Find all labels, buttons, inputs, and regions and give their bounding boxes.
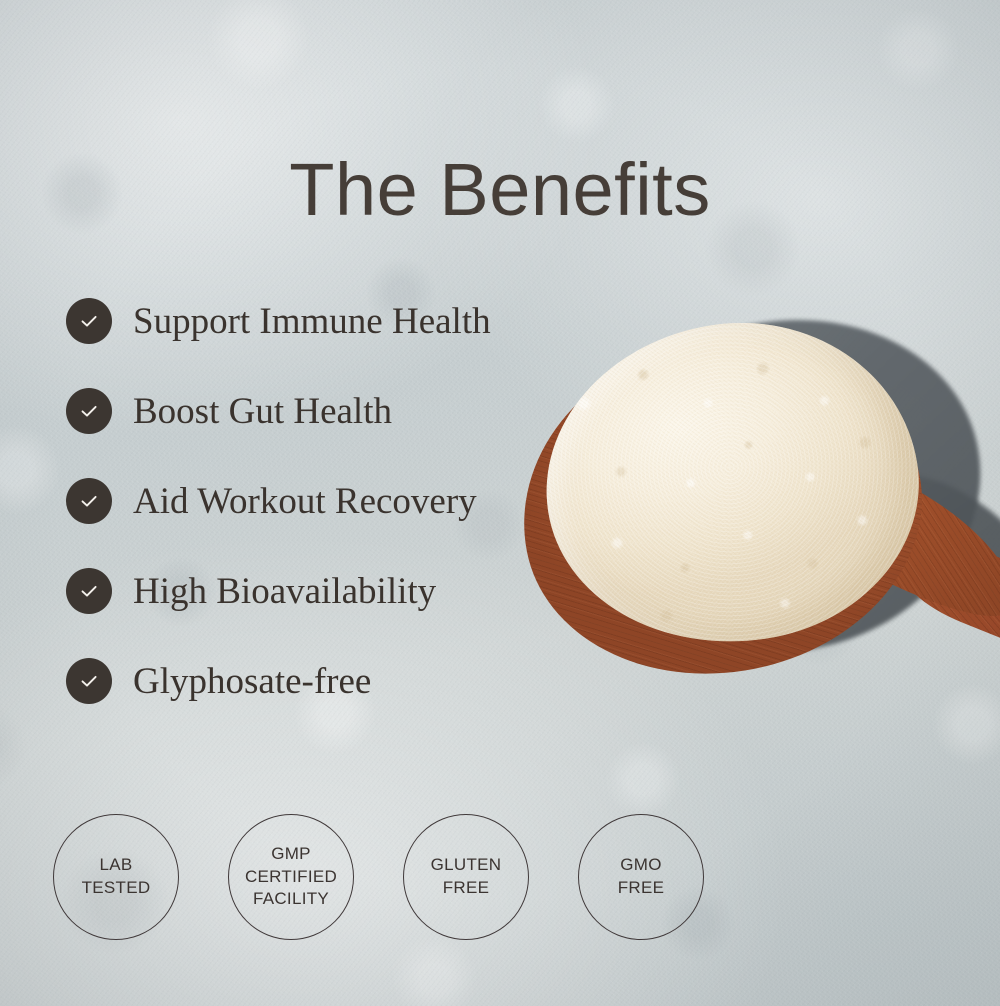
page-title: The Benefits bbox=[0, 153, 1000, 227]
benefit-label: Support Immune Health bbox=[133, 303, 491, 340]
certification-badge-row: LAB TESTED GMP CERTIFIED FACILITY GLUTEN… bbox=[53, 814, 733, 940]
benefit-label: Aid Workout Recovery bbox=[133, 483, 477, 520]
cert-badge-line: FREE bbox=[443, 877, 490, 900]
check-icon bbox=[66, 388, 112, 434]
cert-badge-line: CERTIFIED bbox=[245, 866, 337, 889]
cert-badge-line: FREE bbox=[618, 877, 665, 900]
cert-badge-line: GMO bbox=[620, 854, 662, 877]
cert-badge-line: GMP bbox=[271, 843, 311, 866]
benefit-label: Glyphosate-free bbox=[133, 663, 371, 700]
cert-badge-gmp-certified-facility: GMP CERTIFIED FACILITY bbox=[228, 814, 354, 940]
list-item: High Bioavailability bbox=[66, 568, 606, 614]
cert-badge-gluten-free: GLUTEN FREE bbox=[403, 814, 529, 940]
cert-badge-gmo-free: GMO FREE bbox=[578, 814, 704, 940]
cert-badge-line: TESTED bbox=[82, 877, 151, 900]
check-icon bbox=[66, 568, 112, 614]
list-item: Glyphosate-free bbox=[66, 658, 606, 704]
cert-badge-line: LAB bbox=[99, 854, 132, 877]
benefit-label: High Bioavailability bbox=[133, 573, 436, 610]
cert-badge-lab-tested: LAB TESTED bbox=[53, 814, 179, 940]
list-item: Aid Workout Recovery bbox=[66, 478, 606, 524]
benefit-label: Boost Gut Health bbox=[133, 393, 392, 430]
cert-badge-line: FACILITY bbox=[253, 888, 329, 911]
check-icon bbox=[66, 478, 112, 524]
benefits-list: Support Immune Health Boost Gut Health A… bbox=[66, 298, 606, 748]
check-icon bbox=[66, 658, 112, 704]
list-item: Boost Gut Health bbox=[66, 388, 606, 434]
check-icon bbox=[66, 298, 112, 344]
cert-badge-line: GLUTEN bbox=[431, 854, 502, 877]
list-item: Support Immune Health bbox=[66, 298, 606, 344]
benefits-infographic: The Benefits Support Immune Health Boost… bbox=[0, 0, 1000, 1006]
